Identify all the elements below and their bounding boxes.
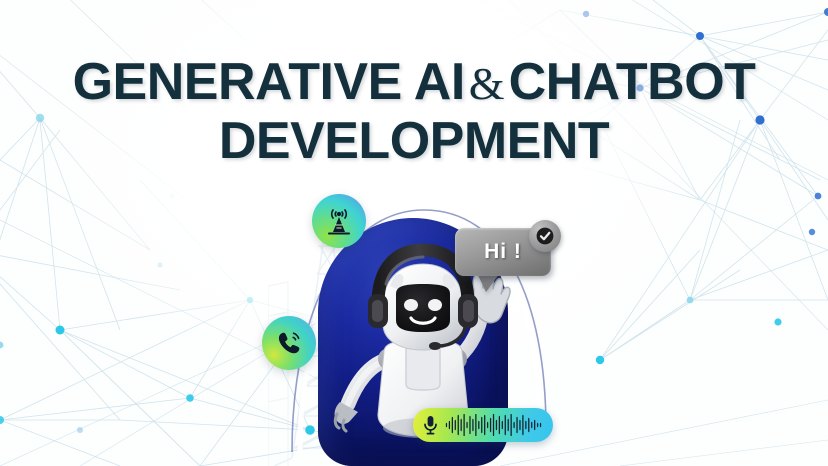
headline-line-1: GENERATIVE AI&CHATBOT	[0, 56, 828, 109]
robot-eye-left	[404, 299, 418, 311]
ampersand-glyph: &	[465, 58, 509, 109]
chat-bubble-group: Hi !	[455, 220, 575, 300]
microphone-icon	[423, 415, 438, 435]
page-title: GENERATIVE AI&CHATBOT DEVELOPMENT	[0, 56, 828, 168]
poster-canvas: GENERATIVE AI&CHATBOT DEVELOPMENT	[0, 0, 828, 466]
voice-input-bar[interactable]	[413, 408, 553, 442]
badge-phone-call[interactable]	[262, 316, 316, 370]
audio-waveform	[445, 414, 543, 436]
check-icon	[535, 226, 555, 246]
badge-broadcast-tower[interactable]	[312, 194, 366, 248]
phone-call-icon	[274, 328, 304, 358]
robot-head	[383, 264, 463, 350]
headline-line-2: DEVELOPMENT	[0, 115, 828, 168]
headline-text-chatbot: CHATBOT	[509, 53, 756, 111]
chat-bubble-text: Hi !	[484, 240, 522, 264]
chatbot-illustration: Hi !	[250, 186, 590, 466]
headline-text-generative-ai: GENERATIVE AI	[73, 53, 465, 111]
broadcast-tower-icon	[324, 206, 354, 236]
robot-eye-right	[428, 299, 442, 311]
chat-bubble-check-badge	[529, 220, 561, 252]
